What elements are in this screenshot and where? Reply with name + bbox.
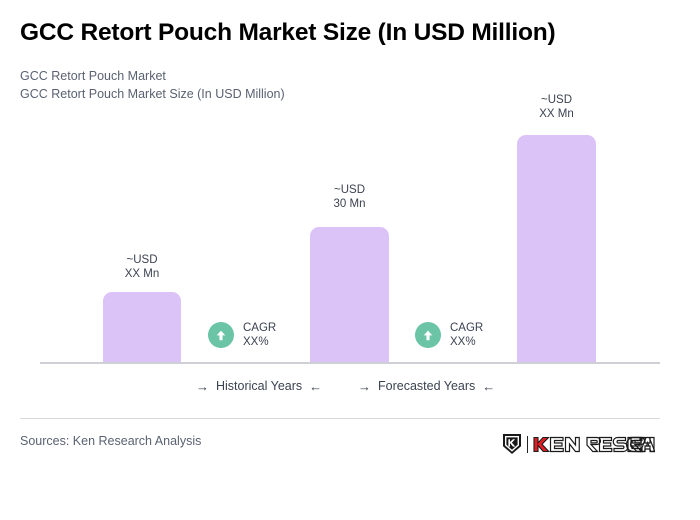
period-label-forecasted: → Forecasted Years ← xyxy=(358,379,495,393)
bar-base[interactable] xyxy=(310,227,389,363)
x-axis-baseline xyxy=(40,362,660,364)
cagr-value: XX% xyxy=(243,336,269,348)
cagr-text-forecast: CAGR XX% xyxy=(450,321,483,349)
arrow-left-icon: ← xyxy=(482,380,495,393)
arrow-right-icon: → xyxy=(358,380,371,393)
period-label-forecasted-text: Forecasted Years xyxy=(378,379,475,393)
bar-value-line1: ~USD xyxy=(103,253,181,267)
ken-research-shield-icon xyxy=(502,433,522,455)
bar-value-line2: XX Mn xyxy=(103,267,181,281)
bar-value-label-base: ~USD 30 Mn xyxy=(310,183,389,211)
bar-value-line2: XX Mn xyxy=(517,107,596,121)
plot-area: ~USD XX Mn ~USD 30 Mn ~USD XX Mn CAGR xyxy=(0,0,700,400)
cagr-value: XX% xyxy=(450,336,476,348)
cagr-badge-forecast[interactable]: CAGR XX% xyxy=(415,321,483,349)
period-label-historical-text: Historical Years xyxy=(216,379,302,393)
bar-value-line2: 30 Mn xyxy=(310,197,389,211)
brand-separator xyxy=(527,436,528,453)
cagr-badge-historical[interactable]: CAGR XX% xyxy=(208,321,276,349)
footer-divider xyxy=(20,418,660,419)
bar-value-line1: ~USD xyxy=(517,93,596,107)
chart-canvas: GCC Retort Pouch Market Size (In USD Mil… xyxy=(0,0,700,520)
bar-value-label-historical: ~USD XX Mn xyxy=(103,253,181,281)
brand-logo xyxy=(502,433,655,455)
up-arrow-icon xyxy=(415,322,441,348)
bar-value-label-forecast: ~USD XX Mn xyxy=(517,93,596,121)
bar-historical[interactable] xyxy=(103,292,181,363)
ken-research-wordmark xyxy=(533,436,655,453)
bar-value-line1: ~USD xyxy=(310,183,389,197)
arrow-right-icon: → xyxy=(196,380,209,393)
arrow-left-icon: ← xyxy=(309,380,322,393)
bar-forecast[interactable] xyxy=(517,135,596,363)
period-label-historical: → Historical Years ← xyxy=(196,379,322,393)
up-arrow-icon xyxy=(208,322,234,348)
cagr-label: CAGR xyxy=(243,322,276,334)
sources-note: Sources: Ken Research Analysis xyxy=(20,434,201,448)
cagr-text-historical: CAGR XX% xyxy=(243,321,276,349)
cagr-label: CAGR xyxy=(450,322,483,334)
